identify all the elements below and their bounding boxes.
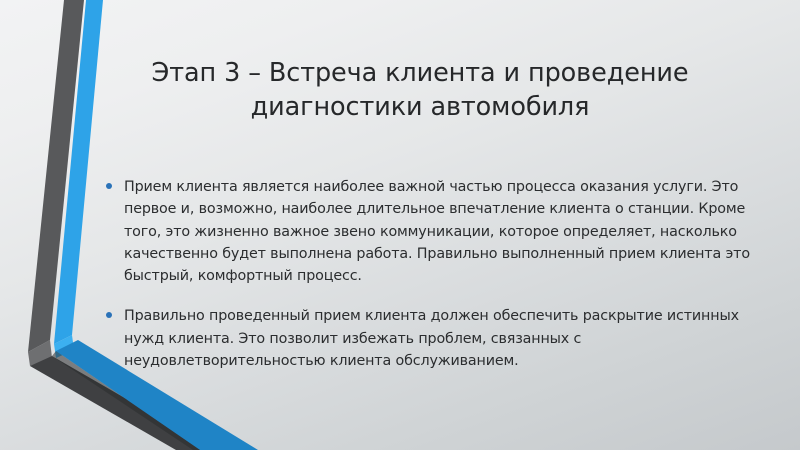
bullet-text: Прием клиента является наиболее важной ч…	[124, 176, 763, 287]
bullet-dot-icon	[106, 312, 112, 318]
list-item: Правильно проведенный прием клиента долж…	[103, 305, 763, 372]
slide-body: Прием клиента является наиболее важной ч…	[103, 176, 763, 372]
chevron-upper-gray-bevel	[28, 340, 52, 366]
chevron-upper-gray-band	[28, 0, 84, 352]
list-item: Прием клиента является наиболее важной ч…	[103, 176, 763, 287]
bullet-text: Правильно проведенный прием клиента долж…	[124, 305, 763, 372]
chevron-upper-blue-bevel	[54, 335, 74, 358]
bullet-dot-icon	[106, 183, 112, 189]
chevron-upper-blue-band	[54, 0, 103, 344]
page-title: Этап 3 – Встреча клиента и проведение ди…	[120, 57, 720, 125]
slide: Этап 3 – Встреча клиента и проведение ди…	[0, 0, 800, 450]
slide-title: Этап 3 – Встреча клиента и проведение ди…	[120, 57, 720, 125]
